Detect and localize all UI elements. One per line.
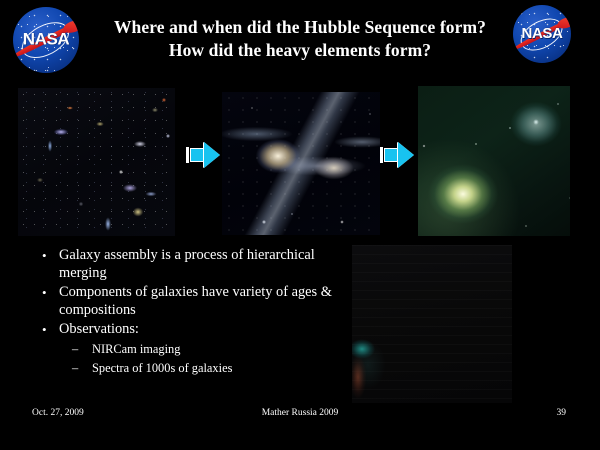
bullet-text: Observations: [59,321,346,339]
arrow-head [204,142,220,168]
bullet-text: Components of galaxies have variety of a… [59,284,346,319]
bullet-marker: • [36,284,59,302]
nasa-logo-left: NASA [13,7,79,73]
bullet-text: Galaxy assembly is a process of hierarch… [59,247,346,282]
footer-title: Mather Russia 2009 [0,408,600,418]
arrow-tail [186,147,189,163]
sub-bullet-item: – NIRCam imaging [72,341,346,358]
sub-bullet-marker: – [72,360,92,377]
bullet-item: • Observations: [36,321,346,339]
bullet-item: • Galaxy assembly is a process of hierar… [36,247,346,282]
arrow-head [398,142,414,168]
bullet-list: • Galaxy assembly is a process of hierar… [36,247,346,379]
slide-footer: Oct. 27, 2009 Mather Russia 2009 39 [0,408,600,428]
sub-bullet-text: Spectra of 1000s of galaxies [92,360,346,377]
arrow-right-icon-1 [186,142,220,168]
sub-bullet-item: – Spectra of 1000s of galaxies [72,360,346,377]
presentation-slide: NASA NASA Where and when did the Hubble … [0,0,600,450]
sub-bullet-text: NIRCam imaging [92,341,346,358]
figure-deep-field [18,88,175,236]
sub-bullet-marker: – [72,341,92,358]
figure-green-galaxy-pair [418,86,570,236]
arrow-right-icon-2 [380,142,414,168]
title-line-1: Where and when did the Hubble Sequence f… [104,16,496,39]
title-line-2: How did the heavy elements form? [104,39,496,62]
slide-title: Where and when did the Hubble Sequence f… [104,16,496,62]
figure-merging-galaxies [222,92,380,235]
arrow-tail [380,147,383,163]
bullet-marker: • [36,321,59,339]
slide-number: 39 [557,408,567,418]
figure-dark-field [352,245,512,403]
nasa-wordmark-right: NASA [513,25,571,42]
nasa-wordmark-left: NASA [13,30,79,50]
nasa-logo-right: NASA [513,5,571,63]
bullet-item: • Components of galaxies have variety of… [36,284,346,319]
bullet-marker: • [36,247,59,265]
